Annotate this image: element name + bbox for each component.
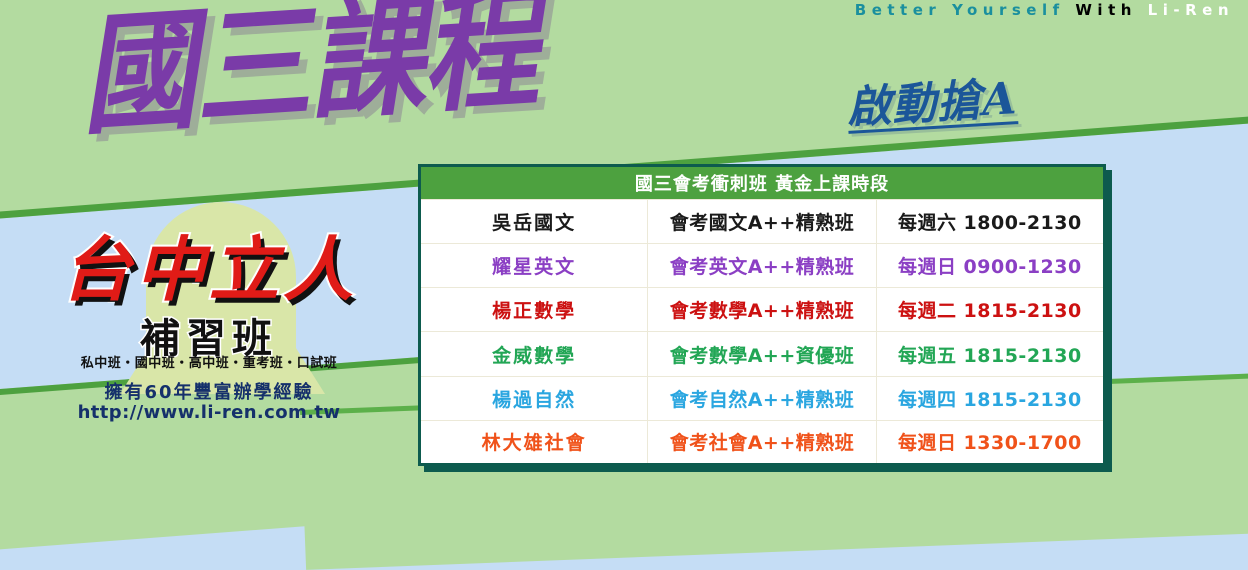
schedule-course: 會考數學A++資優班 bbox=[648, 332, 876, 376]
schedule-teacher: 吳岳國文 bbox=[420, 200, 648, 244]
tagline-part-2: With bbox=[1075, 1, 1137, 19]
schedule-time: 每週日 0900-1230 bbox=[876, 244, 1104, 288]
schedule-table: 國三會考衝刺班 黃金上課時段 吳岳國文會考國文A++精熟班每週六 1800-21… bbox=[418, 164, 1106, 466]
schedule-course: 會考英文A++精熟班 bbox=[648, 244, 876, 288]
table-row: 耀星英文會考英文A++精熟班每週日 0900-1230 bbox=[420, 244, 1105, 288]
table-header: 國三會考衝刺班 黃金上課時段 bbox=[420, 166, 1105, 200]
schedule-time: 每週日 1330-1700 bbox=[876, 420, 1104, 464]
tagline-part-3: Li-Ren bbox=[1148, 1, 1234, 19]
schedule-teacher: 楊正數學 bbox=[420, 288, 648, 332]
table-row: 楊過自然會考自然A++精熟班每週四 1815-2130 bbox=[420, 376, 1105, 420]
schedule-time: 每週五 1815-2130 bbox=[876, 332, 1104, 376]
schedule-teacher: 楊過自然 bbox=[420, 376, 648, 420]
schedule-time: 每週六 1800-2130 bbox=[876, 200, 1104, 244]
schedule-teacher: 耀星英文 bbox=[420, 244, 648, 288]
tagline-part-1: Better Yourself bbox=[855, 1, 1065, 19]
schedule-course: 會考社會A++精熟班 bbox=[648, 420, 876, 464]
logo-school-name: 台中立人 bbox=[34, 214, 384, 315]
page-title: 國三課程 bbox=[76, 0, 540, 146]
table-header-row: 國三會考衝刺班 黃金上課時段 bbox=[420, 166, 1105, 200]
schedule-teacher: 金威數學 bbox=[420, 332, 648, 376]
table-row: 吳岳國文會考國文A++精熟班每週六 1800-2130 bbox=[420, 200, 1105, 244]
schedule-course: 會考自然A++精熟班 bbox=[648, 376, 876, 420]
schedule-container: 國三會考衝刺班 黃金上課時段 吳岳國文會考國文A++精熟班每週六 1800-21… bbox=[418, 164, 1106, 466]
schedule-time: 每週四 1815-2130 bbox=[876, 376, 1104, 420]
table-row: 林大雄社會會考社會A++精熟班每週日 1330-1700 bbox=[420, 420, 1105, 464]
hero-subtitle: 啟動搶A bbox=[845, 62, 1019, 136]
schedule-time: 每週二 1815-2130 bbox=[876, 288, 1104, 332]
table-row: 楊正數學會考數學A++精熟班每週二 1815-2130 bbox=[420, 288, 1105, 332]
logo-experience-text: 擁有60年豐富辦學經驗 bbox=[34, 378, 384, 404]
logo-class-tags: 私中班・國中班・高中班・重考班・口試班 bbox=[34, 352, 384, 371]
table-row: 金威數學會考數學A++資優班每週五 1815-2130 bbox=[420, 332, 1105, 376]
table-body: 吳岳國文會考國文A++精熟班每週六 1800-2130耀星英文會考英文A++精熟… bbox=[420, 200, 1105, 465]
schedule-teacher: 林大雄社會 bbox=[420, 420, 648, 464]
logo-website-url[interactable]: http://www.li-ren.com.tw bbox=[34, 402, 384, 423]
schedule-course: 會考數學A++精熟班 bbox=[648, 288, 876, 332]
school-logo: 台中立人 補習班 私中班・國中班・高中班・重考班・口試班 擁有60年豐富辦學經驗… bbox=[34, 196, 384, 426]
schedule-course: 會考國文A++精熟班 bbox=[648, 200, 876, 244]
schedule-title-cell: 國三會考衝刺班 黃金上課時段 bbox=[420, 166, 1105, 200]
